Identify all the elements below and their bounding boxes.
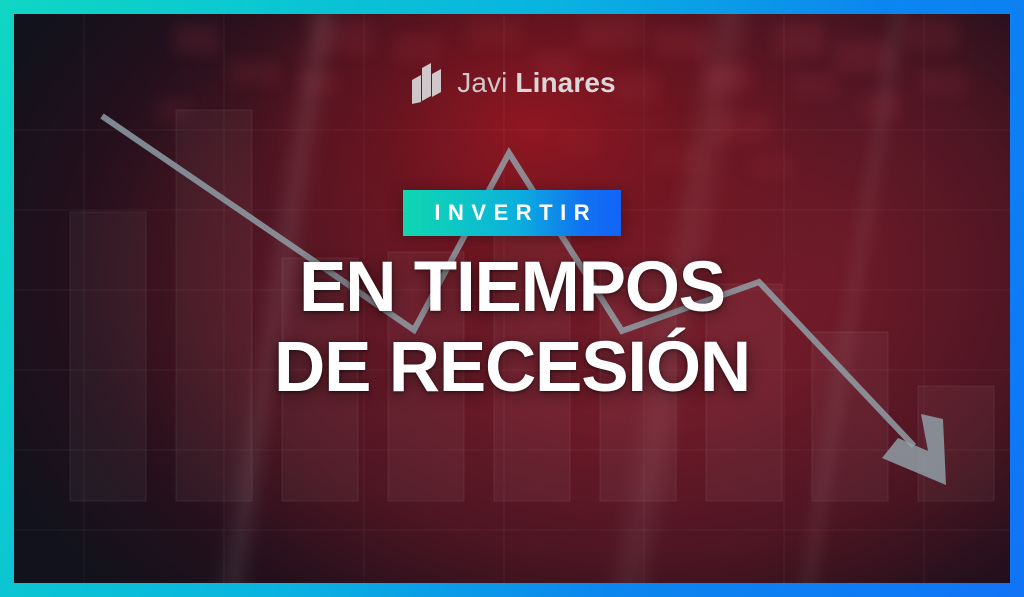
three-bars-logo-icon <box>408 62 446 104</box>
brand-wordmark: Javi Linares <box>457 69 615 97</box>
page-title: EN TIEMPOS DE RECESIÓN <box>14 254 1010 402</box>
thumbnail-canvas: Javi Linares INVERTIR EN TIEMPOS DE RECE… <box>14 14 1010 583</box>
brand-name-light: Javi <box>457 67 507 98</box>
title-line-1: EN TIEMPOS <box>14 254 1010 322</box>
brand-logo[interactable]: Javi Linares <box>14 62 1010 104</box>
badge-label: INVERTIR <box>427 202 597 224</box>
brand-name-bold: Linares <box>515 67 615 98</box>
category-badge: INVERTIR <box>403 190 621 236</box>
thumbnail-frame: Javi Linares INVERTIR EN TIEMPOS DE RECE… <box>0 0 1024 597</box>
title-line-2: DE RECESIÓN <box>14 334 1010 402</box>
